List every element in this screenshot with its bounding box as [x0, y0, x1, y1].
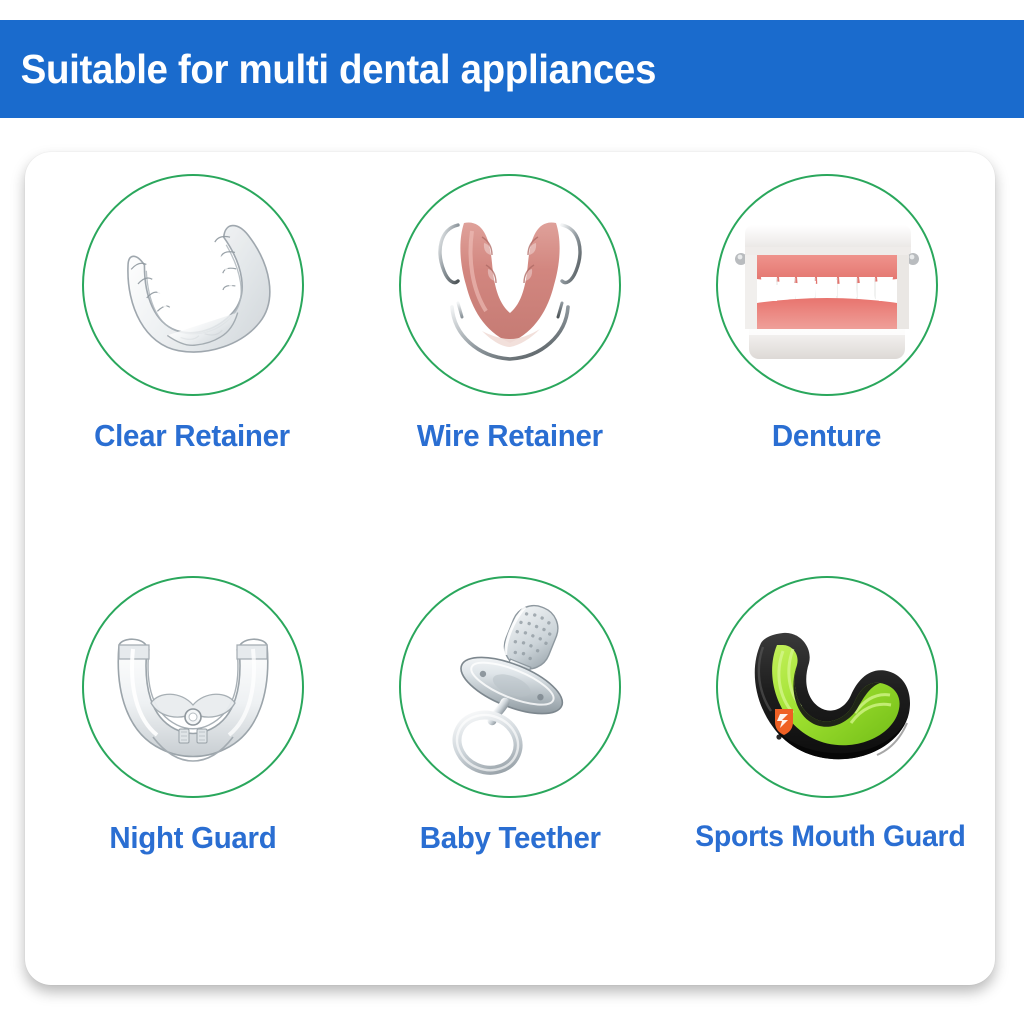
appliance-grid: Clear Retainer — [25, 152, 995, 985]
night-guard-icon — [93, 587, 293, 787]
circle-frame — [82, 174, 304, 396]
page-title: Suitable for multi dental appliances — [0, 46, 656, 93]
appliance-item-denture[interactable]: Denture — [668, 174, 985, 576]
product-feature-graphic: Suitable for multi dental appliances — [0, 0, 1024, 1024]
circle-frame — [82, 576, 304, 798]
denture-model-icon — [727, 185, 927, 385]
appliance-label: Clear Retainer — [94, 418, 290, 454]
sports-mouth-guard-icon — [727, 587, 927, 787]
appliance-item-baby-teether[interactable]: Baby Teether — [352, 576, 669, 978]
wire-retainer-icon — [410, 185, 610, 385]
appliance-label: Night Guard — [110, 820, 277, 856]
header-banner: Suitable for multi dental appliances — [0, 20, 1024, 118]
circle-frame — [716, 576, 938, 798]
baby-teether-icon — [410, 587, 610, 787]
circle-frame — [399, 174, 621, 396]
clear-retainer-icon — [93, 185, 293, 385]
appliance-label: Baby Teether — [419, 820, 600, 856]
appliance-label: Wire Retainer — [417, 418, 603, 454]
appliance-item-clear-retainer[interactable]: Clear Retainer — [35, 174, 352, 576]
appliance-item-sports-mouth-guard[interactable]: Sports Mouth Guard — [668, 576, 985, 978]
appliance-item-wire-retainer[interactable]: Wire Retainer — [352, 174, 669, 576]
circle-frame — [716, 174, 938, 396]
appliance-item-night-guard[interactable]: Night Guard — [35, 576, 352, 978]
appliance-label: Denture — [772, 418, 881, 454]
circle-frame — [399, 576, 621, 798]
appliance-label: Sports Mouth Guard — [695, 820, 965, 854]
